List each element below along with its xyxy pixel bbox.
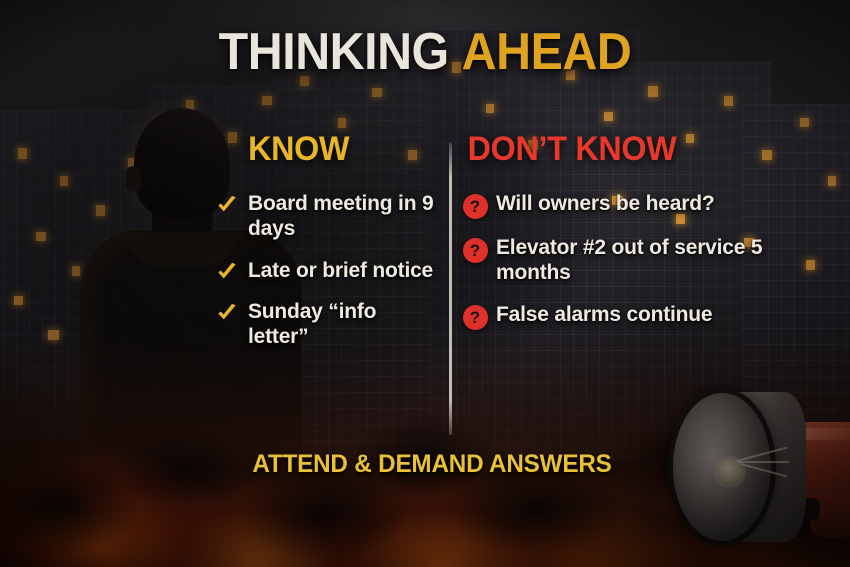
question-mark-glyph: ?	[463, 238, 488, 263]
call-to-action-text: ATTEND & DEMAND ANSWERS	[219, 450, 646, 479]
know-heading: KNOW	[212, 132, 423, 166]
know-list-item: Late or brief notice	[212, 259, 434, 284]
know-item-text: Sunday “info letter”	[248, 300, 434, 350]
title-word-thinking: THINKING	[219, 23, 449, 81]
dont-know-heading: DON’T KNOW	[460, 132, 819, 166]
dont-know-item-text: Will owners be heard?	[496, 192, 714, 217]
infographic-poster: THINKING AHEAD KNOW Board meeting in 9 d…	[0, 0, 850, 567]
dont-know-list-item: ? Will owners be heard?	[460, 192, 838, 219]
question-mark-icon: ?	[460, 192, 490, 219]
know-item-text: Board meeting in 9 days	[248, 192, 434, 242]
know-list-item: Sunday “info letter”	[212, 300, 434, 350]
comparison-columns: KNOW Board meeting in 9 days	[212, 132, 838, 432]
column-divider	[449, 143, 452, 435]
question-mark-icon: ?	[460, 236, 490, 263]
know-item-text: Late or brief notice	[248, 259, 433, 284]
dont-know-list-item: ? False alarms continue	[460, 303, 838, 330]
question-mark-glyph: ?	[463, 305, 488, 330]
dont-know-item-text: False alarms continue	[496, 303, 712, 328]
check-icon	[212, 259, 242, 283]
know-column: KNOW Board meeting in 9 days	[212, 132, 434, 367]
dont-know-item-text: Elevator #2 out of service 5 months	[496, 236, 838, 286]
poster-content: THINKING AHEAD KNOW Board meeting in 9 d…	[0, 0, 850, 567]
dont-know-list-item: ? Elevator #2 out of service 5 months	[460, 236, 838, 286]
poster-title: THINKING AHEAD	[30, 26, 821, 78]
dont-know-column: DON’T KNOW ? Will owners be heard? ? Ele…	[460, 132, 838, 347]
title-word-ahead: AHEAD	[462, 23, 632, 81]
check-icon	[212, 192, 242, 216]
know-list-item: Board meeting in 9 days	[212, 192, 434, 242]
check-icon	[212, 300, 242, 324]
question-mark-glyph: ?	[463, 194, 488, 219]
question-mark-icon: ?	[460, 303, 490, 330]
